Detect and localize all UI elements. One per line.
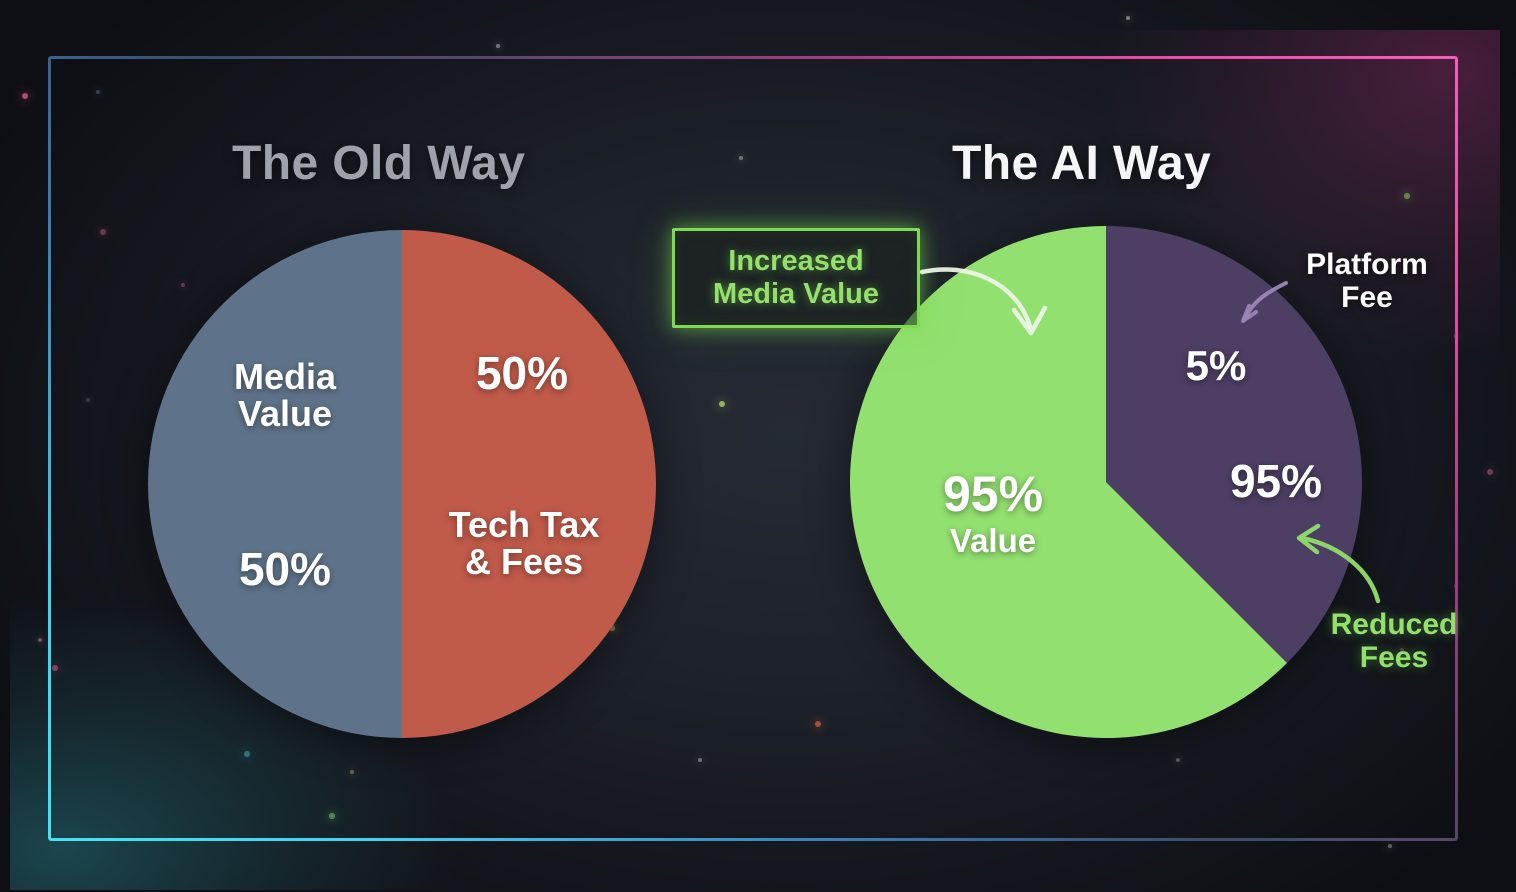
star-particle xyxy=(1487,469,1493,475)
star-particle xyxy=(496,44,500,48)
callout-increased-media-value-text: Increased Media Value xyxy=(713,245,879,311)
pie-label-platform-fee-percent: 5% xyxy=(1146,344,1286,388)
pie-label-tech-tax-name: Tech Tax & Fees xyxy=(424,506,624,581)
pie-label-media-value-percent: 50% xyxy=(190,546,380,594)
panel-title-old-way: The Old Way xyxy=(232,136,525,191)
pie-label-value-percent: 95% xyxy=(900,468,1086,520)
star-particle xyxy=(22,93,28,99)
panel-title-ai-way: The AI Way xyxy=(952,136,1211,191)
pie-label-value-sublabel: Value xyxy=(900,524,1086,558)
pie-slice-media-value xyxy=(148,230,402,738)
pie-slice-tech-tax xyxy=(402,230,656,738)
star-particle xyxy=(38,638,42,642)
pie-chart-old-way xyxy=(146,228,658,740)
star-particle xyxy=(1126,16,1131,21)
callout-increased-media-value: Increased Media Value xyxy=(672,228,920,328)
annotation-reduced-fees: Reduced Fees xyxy=(1314,608,1474,674)
star-particle xyxy=(1388,844,1393,849)
pie-label-media-value-name: Media Value xyxy=(190,358,380,433)
pie-label-fees-percent: 95% xyxy=(1186,458,1366,506)
pie-label-tech-tax-percent: 50% xyxy=(432,350,612,398)
annotation-platform-fee: Platform Fee xyxy=(1282,248,1452,314)
infographic-slide: The Old Way Media Value 50% 50% Tech Tax… xyxy=(0,0,1516,892)
